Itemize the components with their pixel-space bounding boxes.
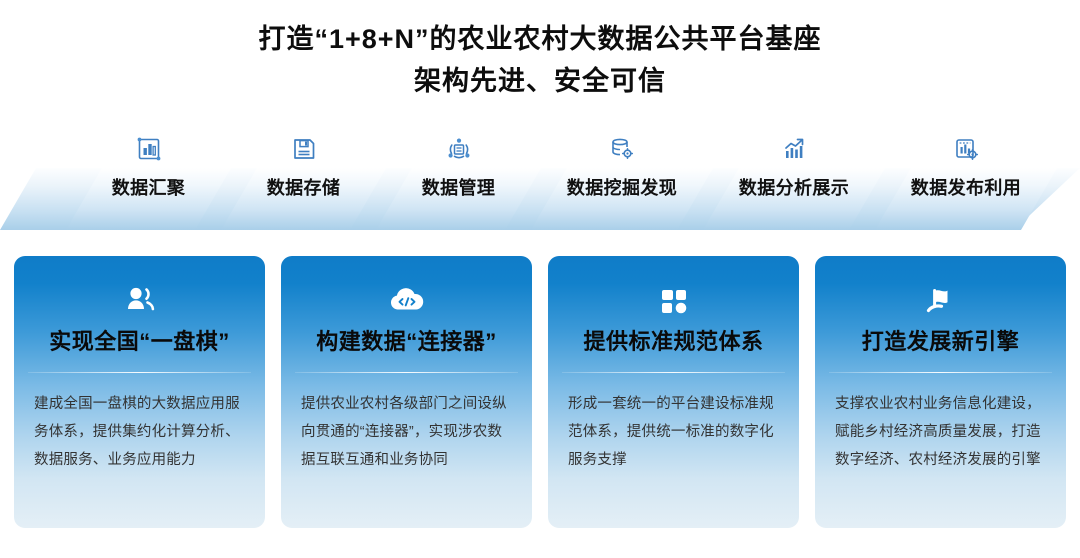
process-step-data-publishing[interactable]: 数据发布利用 [875,130,1057,235]
feature-card-body: 提供农业农村各级部门之间设纵向贯通的“连接器”，实现涉农数据互联互通和业务协同 [301,390,514,474]
process-step-data-management[interactable]: 数据管理 [376,130,541,235]
feature-card-title: 实现全国“一盘棋” [14,324,265,356]
feature-card-new-engine[interactable]: 打造发展新引擎 支撑农业农村业务信息化建设，赋能乡村经济高质量发展，打造数字经济… [815,256,1066,528]
process-step-label: 数据管理 [376,174,541,200]
cloud-code-icon [281,282,532,318]
process-step-data-analysis[interactable]: 数据分析展示 [703,130,885,235]
page-title: 打造“1+8+N”的农业农村大数据公共平台基座 架构先进、安全可信 [0,0,1080,102]
process-step-label: 数据挖掘发现 [531,174,713,200]
feature-card-title: 构建数据“连接器” [281,324,532,356]
feature-card-body: 支撑农业农村业务信息化建设，赋能乡村经济高质量发展，打造数字经济、农村经济发展的… [835,390,1048,474]
feature-card-body: 建成全国一盘棋的大数据应用服务体系，提供集约化计算分析、数据服务、业务应用能力 [34,390,247,474]
page-title-line-2: 架构先进、安全可信 [0,60,1080,102]
process-step-data-aggregation[interactable]: 数据汇聚 [66,130,231,235]
node-network-icon [376,132,541,166]
feature-card-data-connector[interactable]: 构建数据“连接器” 提供农业农村各级部门之间设纵向贯通的“连接器”，实现涉农数据… [281,256,532,528]
dashboard-gear-icon [875,132,1057,166]
feature-card-list: 实现全国“一盘棋” 建成全国一盘棋的大数据应用服务体系，提供集约化计算分析、数据… [14,256,1066,528]
feature-card-body: 形成一套统一的平台建设标准规范体系，提供统一标准的数字化服务支撑 [568,390,781,474]
feature-card-national-unity[interactable]: 实现全国“一盘棋” 建成全国一盘棋的大数据应用服务体系，提供集约化计算分析、数据… [14,256,265,528]
process-step-label: 数据存储 [221,174,386,200]
feature-card-divider [295,372,518,373]
feature-card-divider [562,372,785,373]
feature-card-standards-system[interactable]: 提供标准规范体系 形成一套统一的平台建设标准规范体系，提供统一标准的数字化服务支… [548,256,799,528]
bar-chart-frame-icon [66,132,231,166]
grid-squares-icon [548,282,799,318]
database-gear-icon [531,132,713,166]
page-title-line-1: 打造“1+8+N”的农业农村大数据公共平台基座 [0,18,1080,60]
people-group-icon [14,282,265,318]
floppy-disk-icon [221,132,386,166]
feature-card-title: 提供标准规范体系 [548,324,799,356]
process-step-data-mining[interactable]: 数据挖掘发现 [531,130,713,235]
process-step-label: 数据分析展示 [703,174,885,200]
trend-arrow-chart-icon [703,132,885,166]
process-banner: 数据汇聚 数据存储 [0,130,1080,235]
process-step-label: 数据汇聚 [66,174,231,200]
feature-card-title: 打造发展新引擎 [815,324,1066,356]
process-step-data-storage[interactable]: 数据存储 [221,130,386,235]
flag-icon [815,282,1066,318]
process-step-label: 数据发布利用 [875,174,1057,200]
feature-card-divider [28,372,251,373]
process-banner-steps: 数据汇聚 数据存储 [0,130,1080,235]
feature-card-divider [829,372,1052,373]
